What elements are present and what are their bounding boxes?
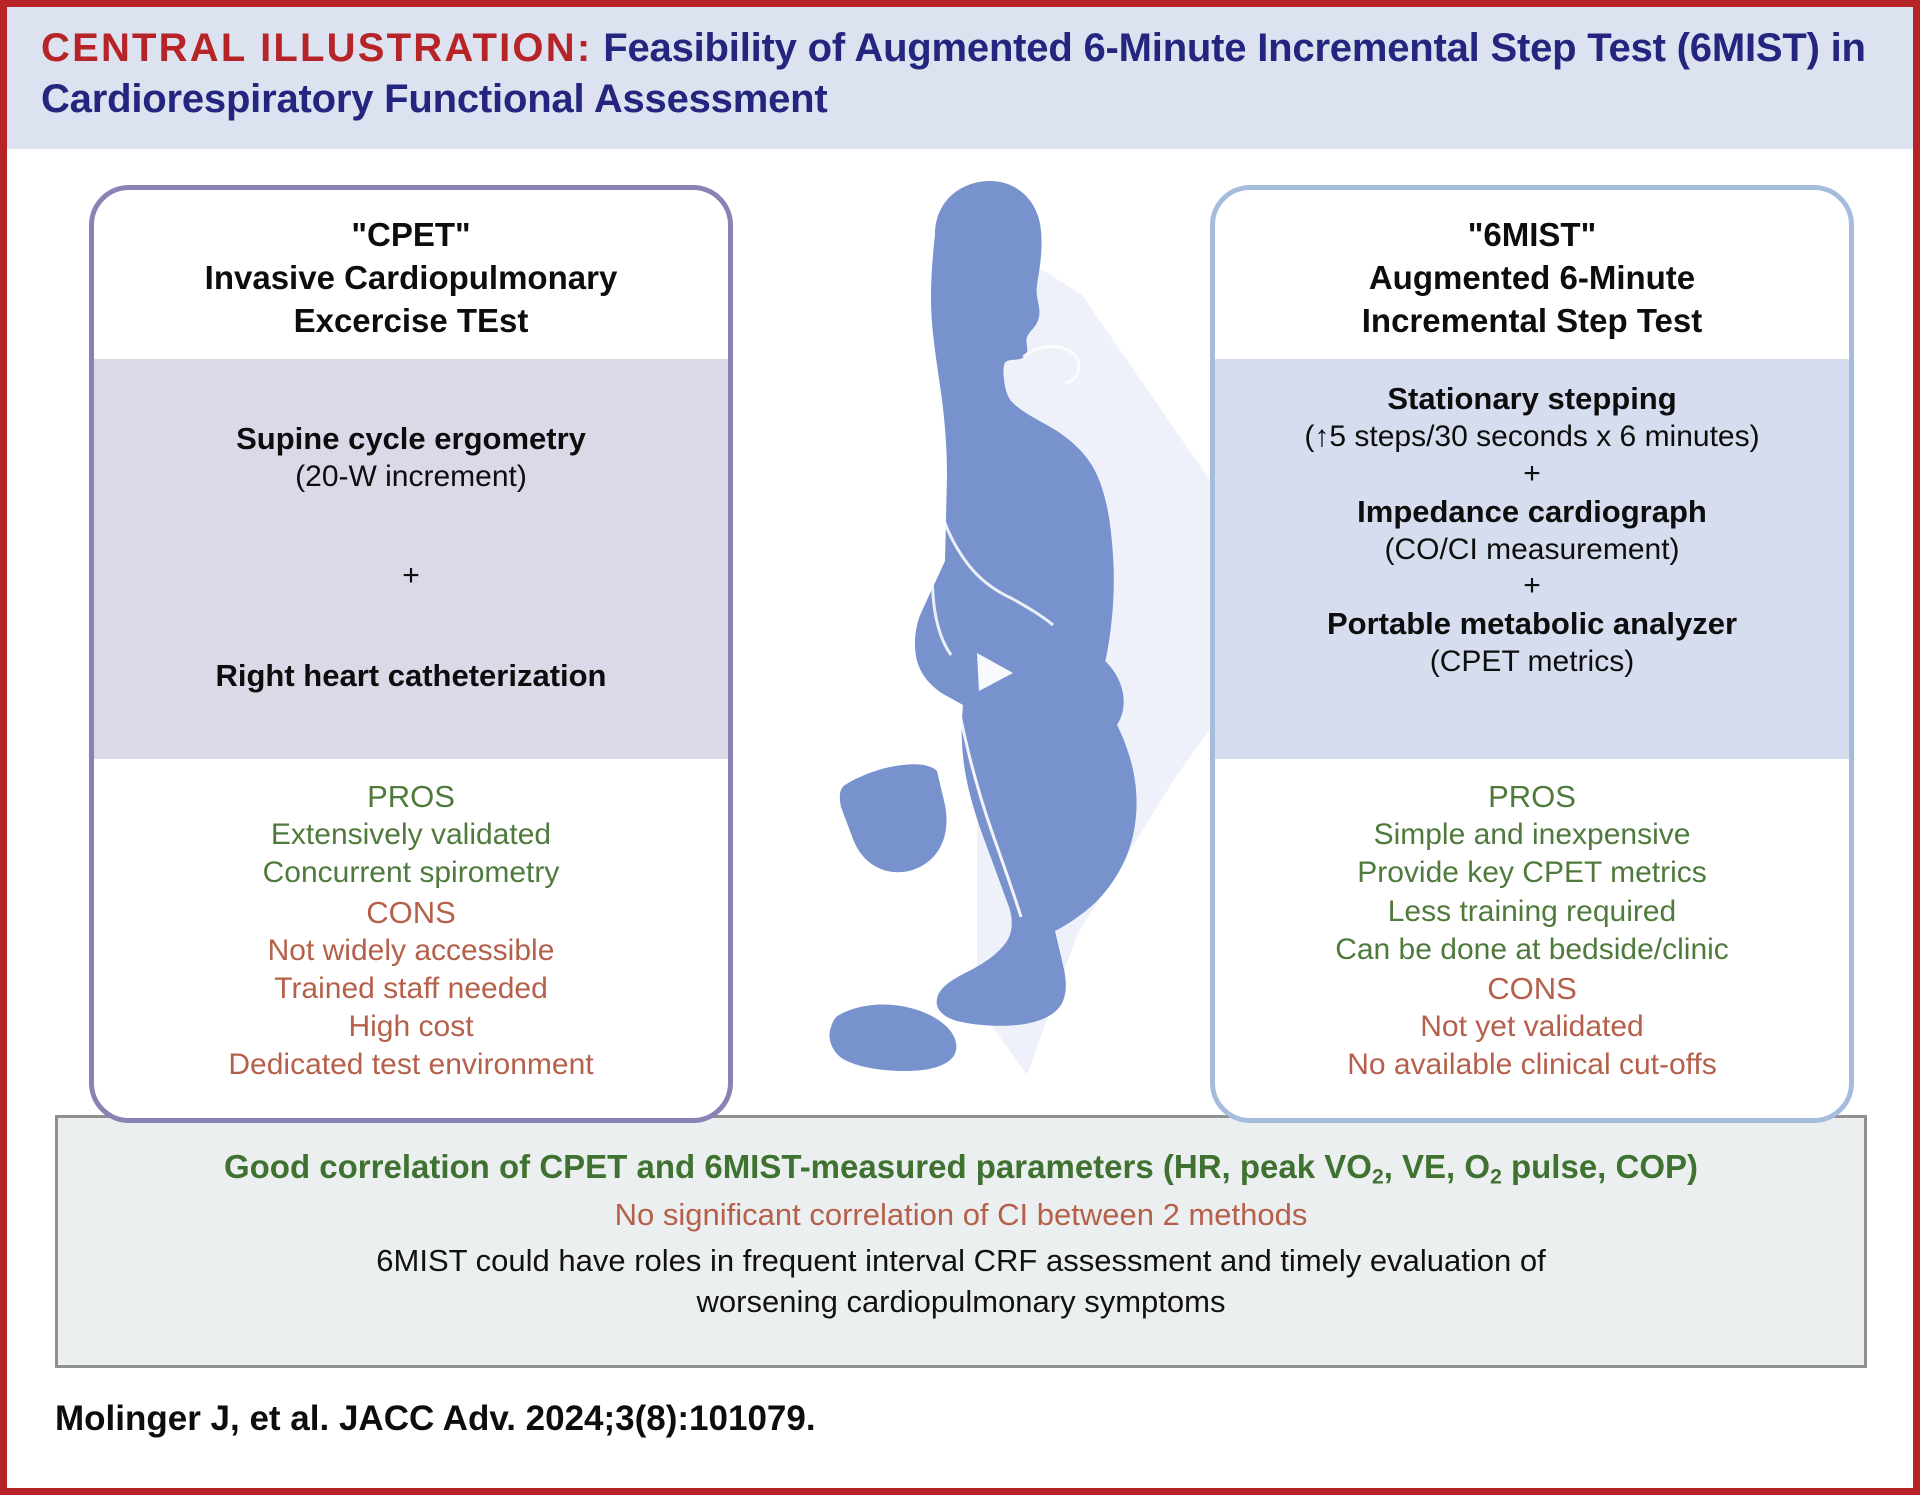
cpet-pros-label: PROS bbox=[94, 777, 728, 817]
citation: Molinger J, et al. JACC Adv. 2024;3(8):1… bbox=[55, 1399, 816, 1439]
cpet-con-item: Trained staff needed bbox=[94, 970, 728, 1008]
conclusion-line-roles: 6MIST could have roles in frequent inter… bbox=[58, 1241, 1864, 1323]
card-6mist: "6MIST" Augmented 6-Minute Incremental S… bbox=[1210, 185, 1854, 1123]
cpet-pro-item: Concurrent spirometry bbox=[94, 854, 728, 892]
card-cpet-method-band: Supine cycle ergometry (20-W increment) … bbox=[94, 359, 728, 759]
sixmist-pro-item: Simple and inexpensive bbox=[1215, 816, 1849, 854]
figure-body bbox=[915, 181, 1137, 1026]
card-6mist-title-line1: Augmented 6-Minute bbox=[1233, 257, 1831, 300]
sixmist-method-plus-2: + bbox=[1215, 568, 1849, 604]
figure-shoe bbox=[830, 1004, 957, 1071]
sixmist-pro-item: Can be done at bedside/clinic bbox=[1215, 931, 1849, 969]
card-6mist-title-line2: Incremental Step Test bbox=[1233, 300, 1831, 343]
cpet-cons-label: CONS bbox=[94, 893, 728, 933]
card-6mist-title: "6MIST" Augmented 6-Minute Incremental S… bbox=[1215, 190, 1849, 343]
stepping-person-figure bbox=[827, 175, 1227, 1107]
cpet-method-increment: (20-W increment) bbox=[94, 458, 728, 496]
figure-step-block bbox=[840, 764, 947, 872]
cpet-con-item: Not widely accessible bbox=[94, 932, 728, 970]
header-band: CENTRAL ILLUSTRATION: Feasibility of Aug… bbox=[7, 7, 1913, 149]
cpet-con-item: Dedicated test environment bbox=[94, 1046, 728, 1084]
sixmist-method-analyzer: Portable metabolic analyzer bbox=[1215, 604, 1849, 643]
sixmist-method-stepping: Stationary stepping bbox=[1215, 379, 1849, 418]
central-illustration-label: CENTRAL ILLUSTRATION: bbox=[41, 26, 592, 70]
cpet-method-ergometry: Supine cycle ergometry bbox=[94, 419, 728, 458]
sixmist-method-plus-1: + bbox=[1215, 456, 1849, 492]
card-cpet-proscons: PROS Extensively validated Concurrent sp… bbox=[94, 759, 728, 1085]
card-cpet-abbr: "CPET" bbox=[112, 214, 710, 257]
central-illustration-page: CENTRAL ILLUSTRATION: Feasibility of Aug… bbox=[0, 0, 1920, 1495]
cpet-method-plus: + bbox=[94, 558, 728, 594]
conclusion-line-correlation: Good correlation of CPET and 6MIST-measu… bbox=[58, 1146, 1864, 1191]
cpet-pro-item: Extensively validated bbox=[94, 816, 728, 854]
page-title: CENTRAL ILLUSTRATION: Feasibility of Aug… bbox=[41, 23, 1879, 125]
card-cpet-title: "CPET" Invasive Cardiopulmonary Excercis… bbox=[94, 190, 728, 343]
sixmist-pros-label: PROS bbox=[1215, 777, 1849, 817]
conclusion-box: Good correlation of CPET and 6MIST-measu… bbox=[55, 1115, 1867, 1368]
card-cpet: "CPET" Invasive Cardiopulmonary Excercis… bbox=[89, 185, 733, 1123]
cpet-con-item: High cost bbox=[94, 1008, 728, 1046]
stepping-person-silhouette-icon bbox=[827, 175, 1227, 1107]
sixmist-con-item: No available clinical cut-offs bbox=[1215, 1046, 1849, 1084]
sixmist-method-cadence: (↑5 steps/30 seconds x 6 minutes) bbox=[1215, 418, 1849, 456]
card-cpet-title-line2: Excercise TEst bbox=[112, 300, 710, 343]
card-6mist-proscons: PROS Simple and inexpensive Provide key … bbox=[1215, 759, 1849, 1085]
sixmist-method-coci: (CO/CI measurement) bbox=[1215, 531, 1849, 569]
sixmist-cons-label: CONS bbox=[1215, 969, 1849, 1009]
card-6mist-abbr: "6MIST" bbox=[1233, 214, 1831, 257]
sixmist-pro-item: Less training required bbox=[1215, 893, 1849, 931]
cpet-method-catheterization: Right heart catheterization bbox=[94, 656, 728, 695]
sixmist-method-impedance: Impedance cardiograph bbox=[1215, 492, 1849, 531]
sixmist-method-cpet-metrics: (CPET metrics) bbox=[1215, 643, 1849, 681]
sixmist-con-item: Not yet validated bbox=[1215, 1008, 1849, 1046]
card-cpet-title-line1: Invasive Cardiopulmonary bbox=[112, 257, 710, 300]
sixmist-pro-item: Provide key CPET metrics bbox=[1215, 854, 1849, 892]
card-6mist-method-band: Stationary stepping (↑5 steps/30 seconds… bbox=[1215, 359, 1849, 759]
up-arrow-icon: ↑ bbox=[1314, 420, 1329, 453]
conclusion-line-no-correlation: No significant correlation of CI between… bbox=[58, 1195, 1864, 1235]
